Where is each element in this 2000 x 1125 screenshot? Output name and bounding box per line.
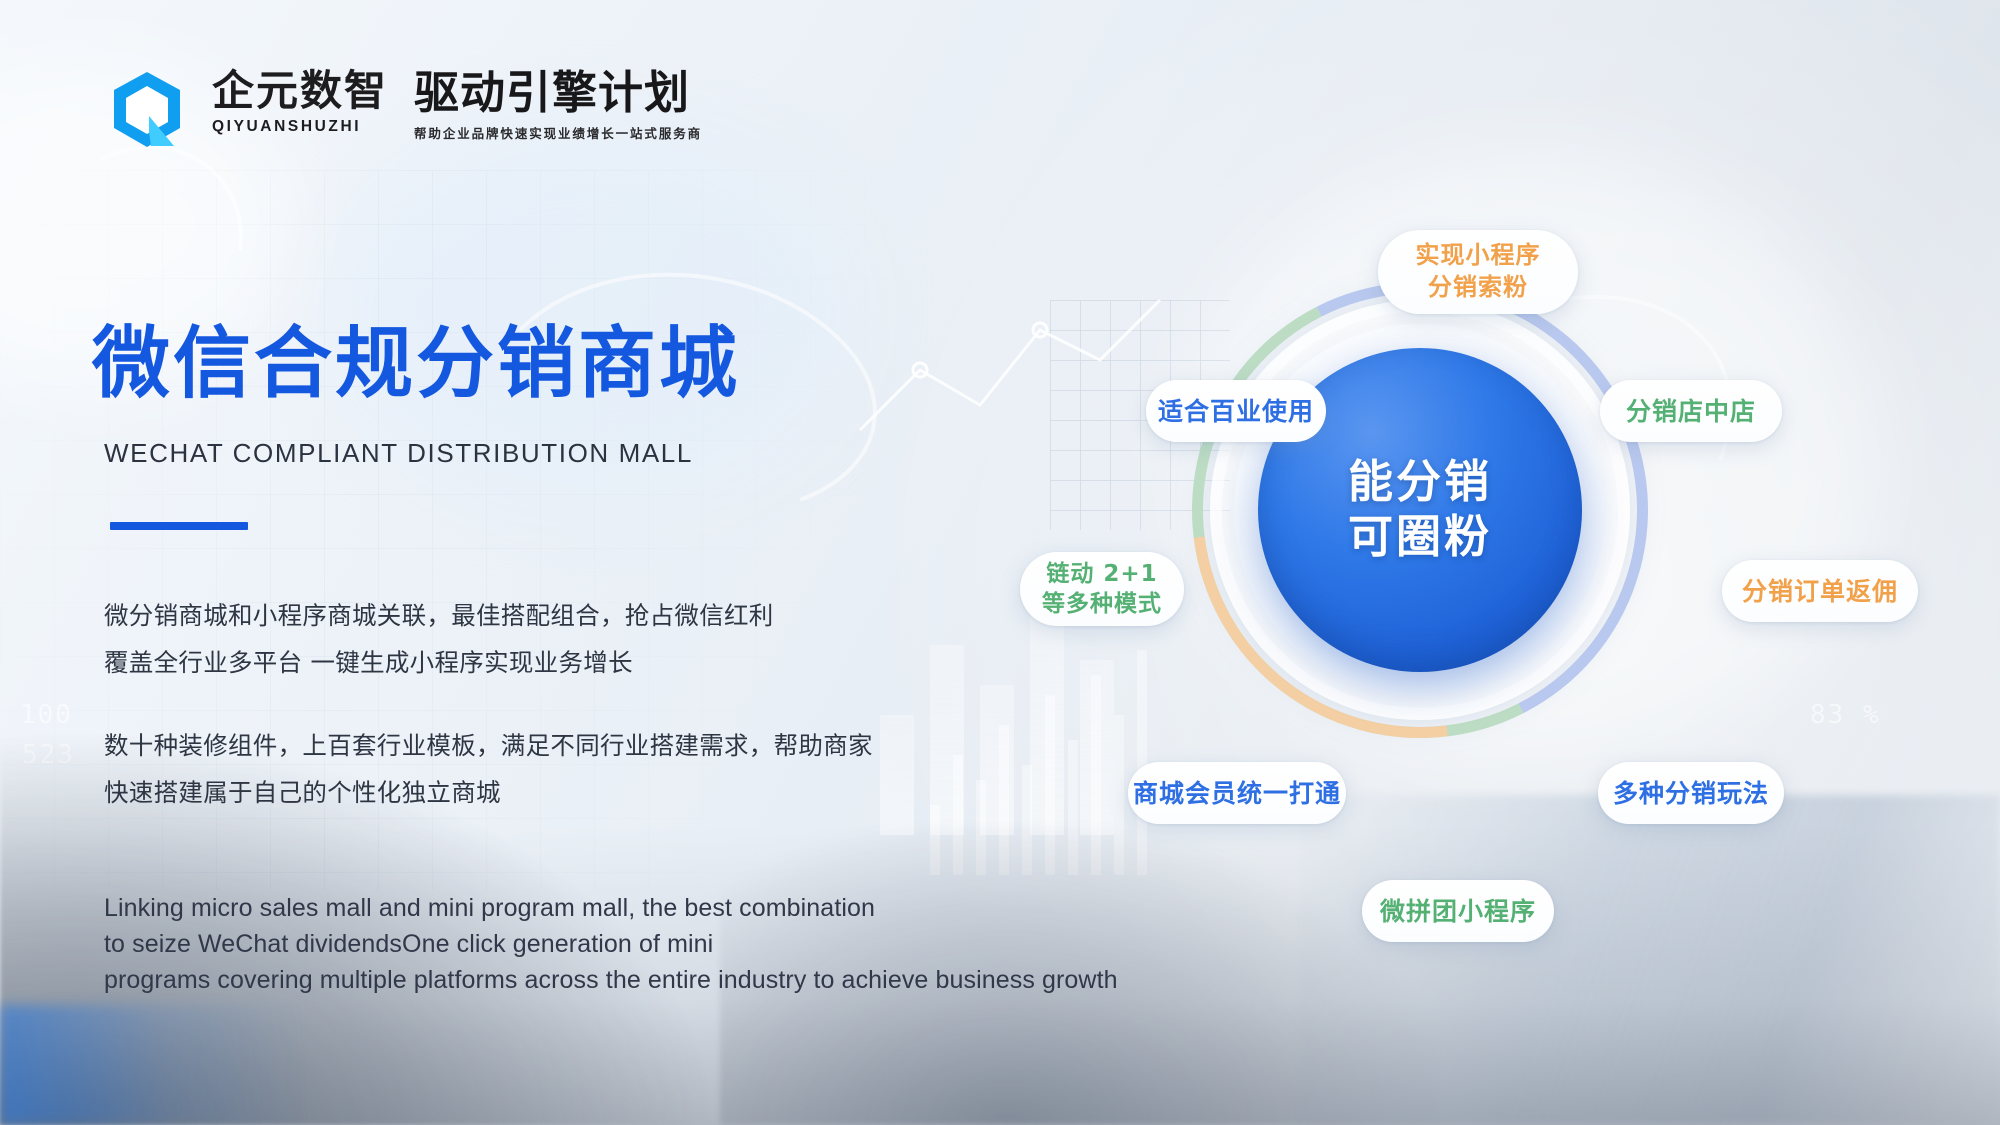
background-ghost-number-4: 83 %: [1810, 700, 1881, 730]
background-ghost-number-2: 523: [22, 740, 75, 770]
campaign-title: 驱动引擎计划: [414, 70, 702, 115]
feature-pill-mini-program-fans[interactable]: 实现小程序 分销索粉: [1378, 230, 1578, 314]
campaign-subtitle: 帮助企业品牌快速实现业绩增长一站式服务商: [414, 123, 702, 142]
brand-name-block: 企元数智 QIYUANSHUZHI: [212, 70, 388, 136]
wheel-core-line-1: 能分销: [1348, 455, 1492, 510]
background-candlestick-chart: [930, 650, 1147, 875]
feature-pill-chain-2-plus-1[interactable]: 链动 2+1 等多种模式: [1020, 552, 1184, 626]
description-paragraph-cn-1: 微分销商城和小程序商城关联，最佳搭配组合，抢占微信红利 覆盖全行业多平台 一键生…: [104, 592, 774, 686]
feature-pill-all-industries[interactable]: 适合百业使用: [1146, 380, 1326, 442]
title-divider: [110, 522, 248, 530]
feature-pill-store-in-store[interactable]: 分销店中店: [1600, 380, 1782, 442]
wheel-core-line-2: 可圈粉: [1348, 510, 1492, 565]
description-paragraph-cn-2: 数十种装修组件，上百套行业模板，满足不同行业搭建需求，帮助商家 快速搭建属于自己…: [104, 722, 873, 816]
description-paragraph-en: Linking micro sales mall and mini progra…: [104, 890, 1118, 998]
feature-pill-unified-members[interactable]: 商城会员统一打通: [1128, 762, 1346, 824]
feature-wheel-diagram: 能分销 可圈粉: [1210, 300, 1630, 720]
background-bar-chart: [880, 605, 1114, 835]
feature-pill-distribution-modes[interactable]: 多种分销玩法: [1598, 762, 1784, 824]
brand-name-en: QIYUANSHUZHI: [212, 118, 388, 136]
feature-pill-order-commission[interactable]: 分销订单返佣: [1722, 560, 1918, 622]
background-ghost-number-1: 100: [20, 700, 73, 730]
page-title: 微信合规分销商城: [92, 325, 740, 403]
campaign-block: 驱动引擎计划 帮助企业品牌快速实现业绩增长一站式服务商: [414, 70, 702, 142]
page-subtitle: WECHAT COMPLIANT DISTRIBUTION MALL: [104, 438, 693, 469]
background-device-photo: [1300, 795, 2000, 1125]
background-blue-accent: [0, 1005, 300, 1125]
qiyuan-hexagon-q-logo-icon: [108, 70, 186, 150]
feature-pill-group-buy-mini-app[interactable]: 微拼团小程序: [1362, 880, 1554, 942]
brand-name-cn: 企元数智: [212, 70, 388, 113]
banner-canvas: 100 523 5 0 9 83 % 企元数智 QIYUANSHUZHI 驱动引…: [0, 0, 2000, 1125]
brand-header: 企元数智 QIYUANSHUZHI 驱动引擎计划 帮助企业品牌快速实现业绩增长一…: [108, 68, 702, 150]
